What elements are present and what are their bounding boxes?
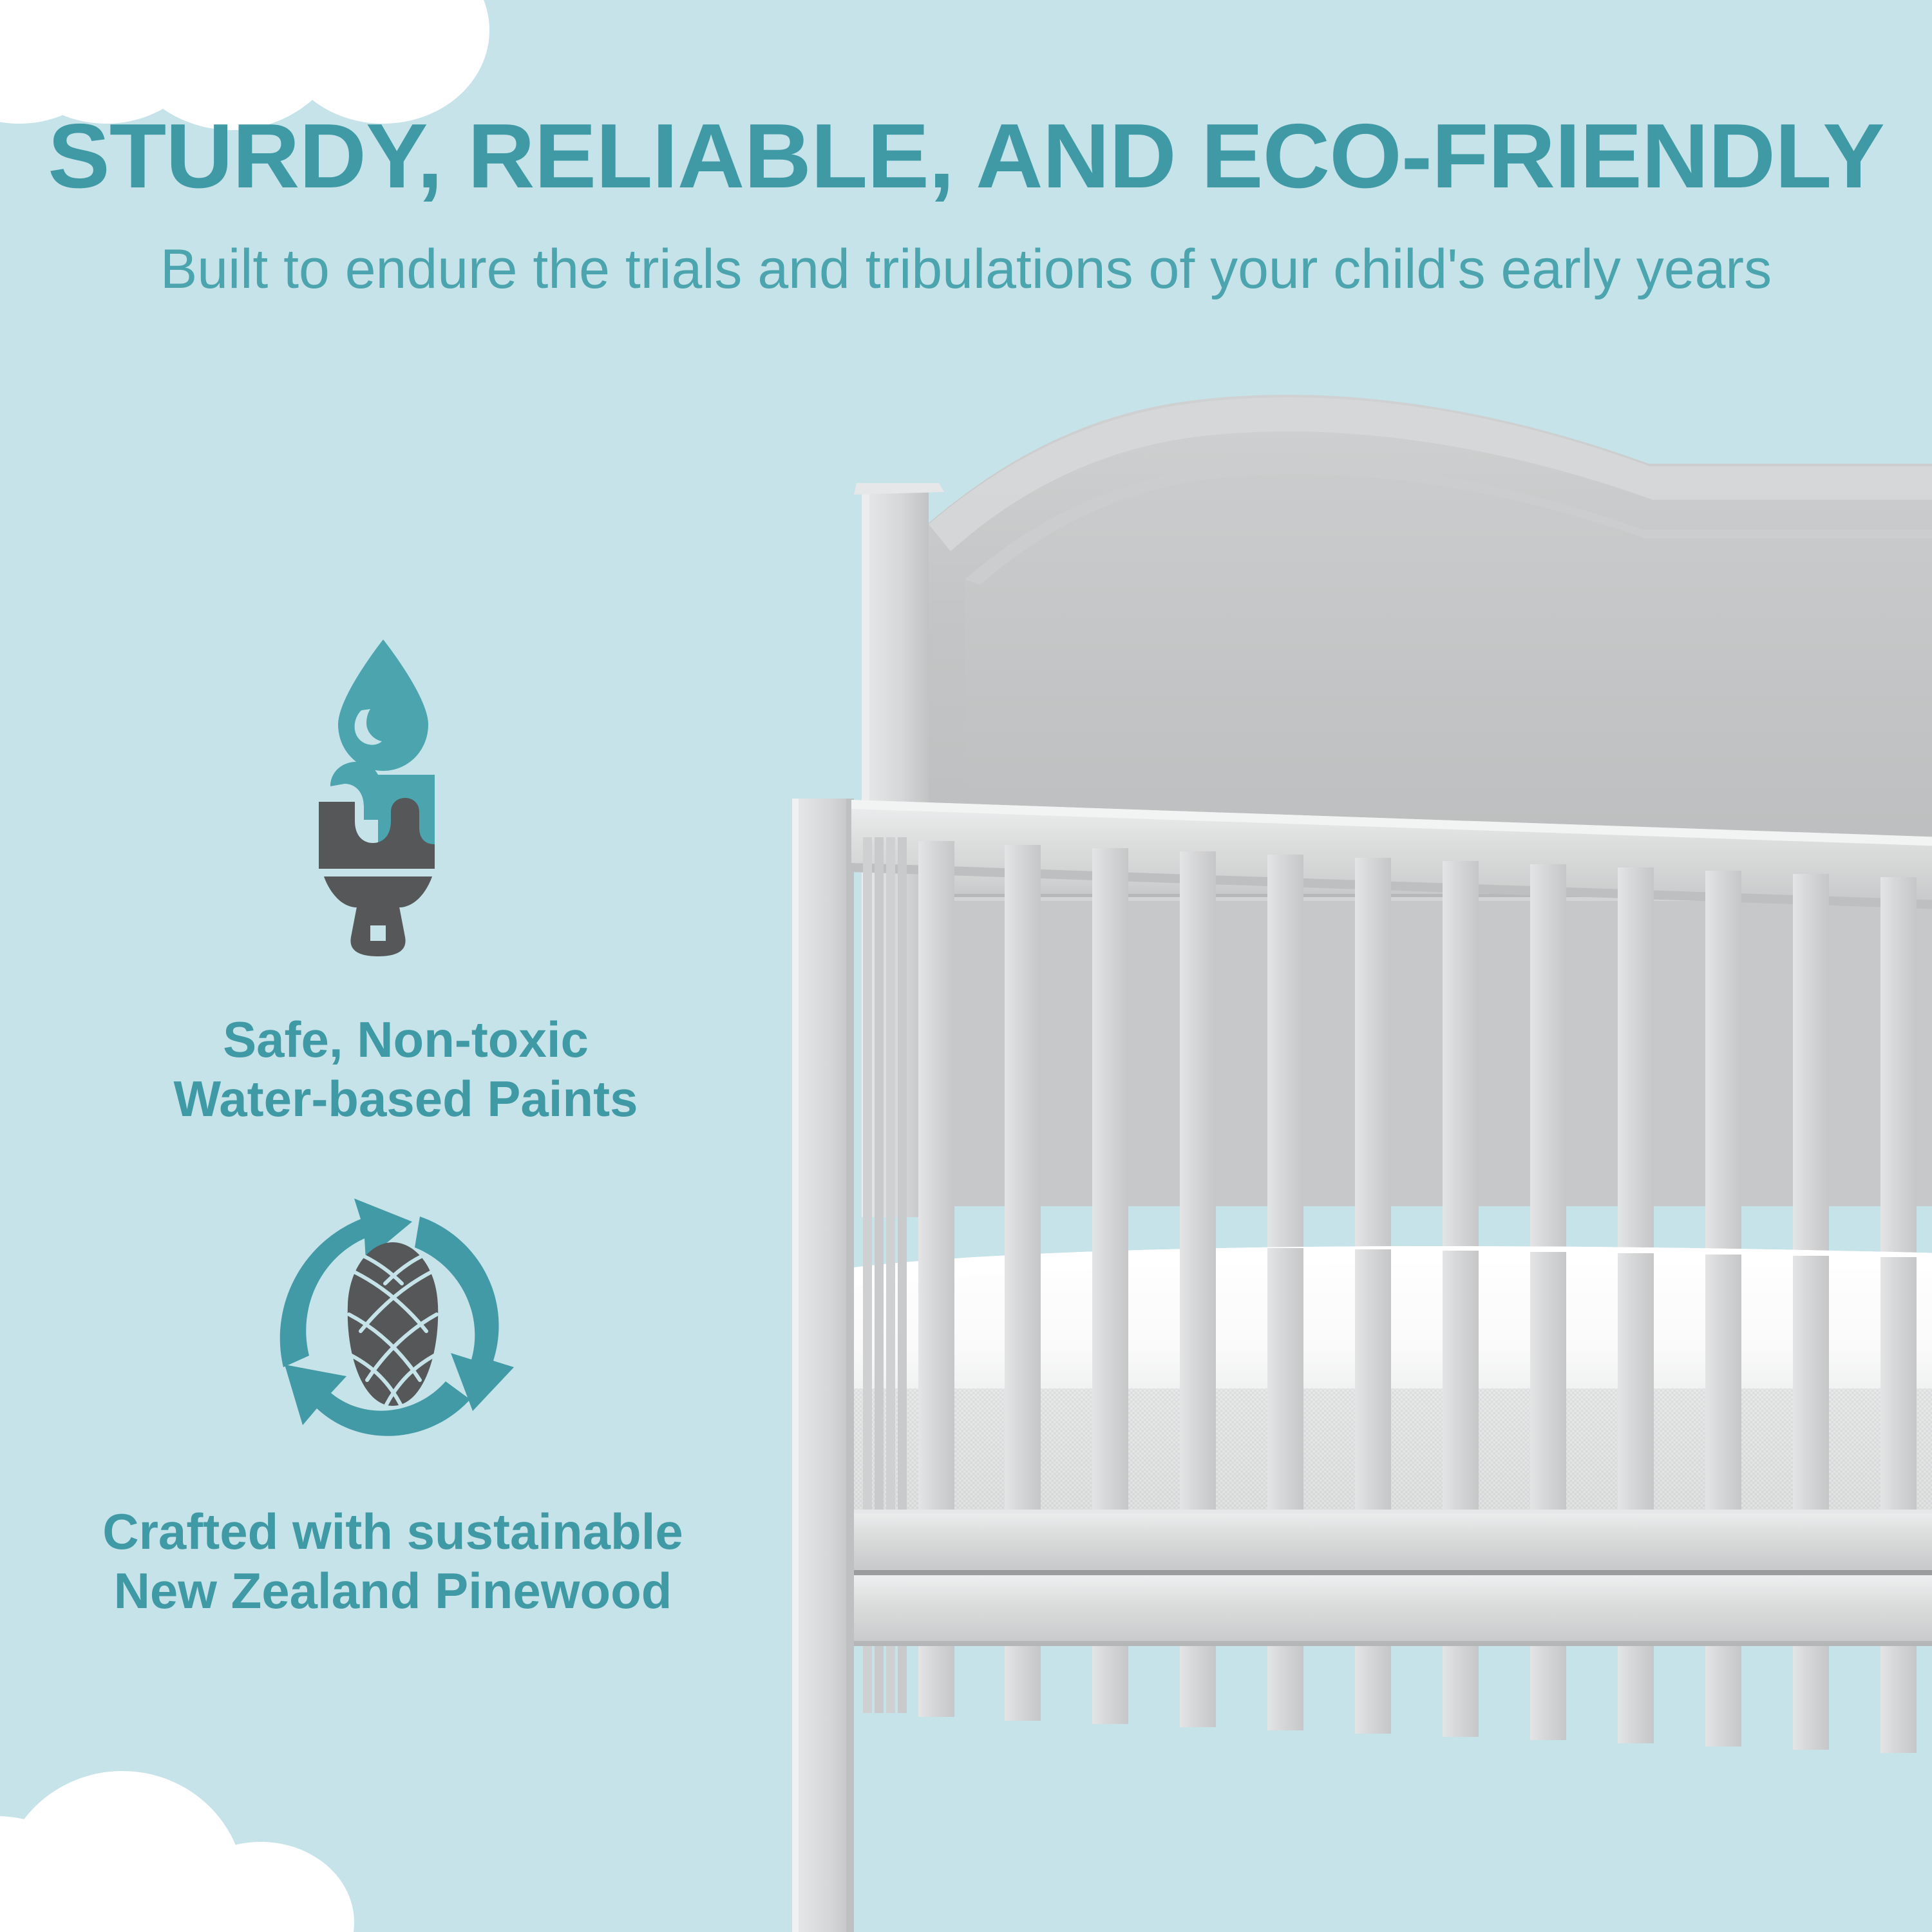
page-subtitle: Built to endure the trials and tribulati…	[0, 241, 1932, 297]
front-leg	[792, 1646, 854, 1929]
product-feature-banner: STURDY, RELIABLE, AND ECO-FRIENDLY Built…	[0, 0, 1932, 1932]
convertible-crib-image	[792, 386, 1932, 1932]
feature-safe-paints: Safe, Non-toxic Water-based Paints	[39, 634, 773, 1128]
pinecone-shape	[348, 1242, 438, 1406]
feature-sustainable-wood: Crafted with sustainable New Zealand Pin…	[13, 1195, 773, 1620]
headboard-arch-panel	[862, 395, 1932, 876]
cloud-icon	[0, 1803, 380, 1932]
recycle-pinecone-icon	[13, 1195, 773, 1455]
feature-caption: Crafted with sustainable New Zealand Pin…	[13, 1502, 773, 1620]
cloud-icon	[0, 0, 489, 117]
feature-caption: Safe, Non-toxic Water-based Paints	[39, 1010, 773, 1128]
paintbrush-waterdrop-icon	[39, 634, 773, 960]
front-bottom-rail	[854, 1510, 1932, 1646]
page-title: STURDY, RELIABLE, AND ECO-FRIENDLY	[0, 111, 1932, 202]
